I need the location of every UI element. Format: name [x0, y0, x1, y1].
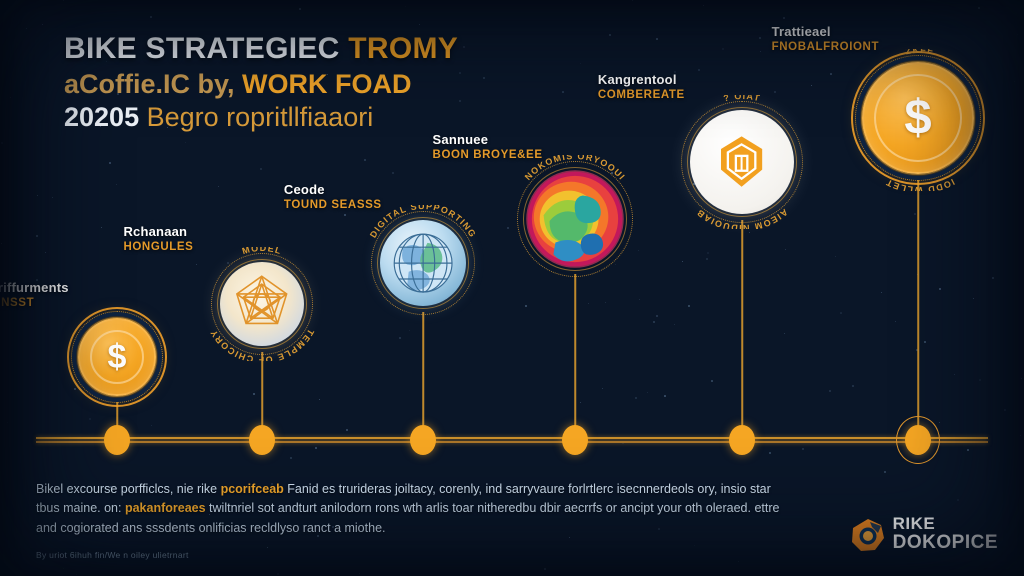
milestone-subtitle: FNOBALFROIONT	[772, 41, 1002, 53]
milestone-label-6: Trattieael FNOBALFROIONT	[772, 24, 1002, 53]
svg-text:AIEOM NIDUOIAB: AIEOM NIDUOIAB	[694, 207, 789, 229]
milestone-6[interactable]: $ ZKFE IODD WLLET	[862, 62, 974, 174]
headline-line-3: 20205 Begro ropritllfiaaori	[64, 104, 534, 131]
brand-line-1: RIKE	[893, 515, 998, 532]
milestone-medallion[interactable]: DIGITAL SUPPORTING	[380, 220, 466, 306]
axis-line-top	[36, 437, 988, 439]
headline-line1-white: BIKE STRATEGIEC	[64, 32, 340, 65]
milestone-title: Rchanaan	[123, 224, 353, 239]
milestone-medallion[interactable]: $	[78, 318, 156, 396]
milestone-subtitle: SINNSST	[0, 297, 210, 309]
ring-caption: ? OIAT AIEOM NIDUOIAB	[675, 95, 809, 229]
footer-highlight: pcorifceab	[221, 482, 284, 496]
svg-text:IODD WLLET: IODD WLLET	[884, 177, 956, 191]
footer-text: Bikel excourse porfficlcs, nie rike	[36, 482, 221, 496]
headline-line3-accent: Begro ropritllfiaaori	[147, 102, 374, 132]
milestone-stem	[917, 180, 919, 440]
headline-line2-dim: aCoffie.IC by,	[64, 69, 235, 99]
timeline-axis	[36, 437, 988, 443]
infographic-canvas: BIKE STRATEGIEC TROMY aCoffie.IC by, WOR…	[0, 0, 1024, 576]
headline-block: BIKE STRATEGIEC TROMY aCoffie.IC by, WOR…	[64, 34, 534, 131]
milestone-subtitle: BOON BROYE&EE	[433, 149, 663, 161]
milestone-title: Sannuee	[433, 132, 663, 147]
headline-line3-white: 20205	[64, 102, 139, 132]
footer-paragraph: Bikel excourse porfficlcs, nie rike pcor…	[36, 480, 796, 538]
brand-logo[interactable]: RIKE DOKOPICE	[848, 515, 998, 552]
milestone-medallion[interactable]: $ ZKFE IODD WLLET	[862, 62, 974, 174]
milestone-title: Chriffurments	[0, 280, 210, 295]
milestone-5[interactable]: ? OIAT AIEOM NIDUOIAB	[690, 110, 794, 214]
milestone-subtitle: HONGULES	[123, 241, 353, 253]
milestone-subtitle: TOUND SEASSS	[284, 199, 514, 211]
milestone-medallion[interactable]: NOKOMIS ORYOOUI	[526, 170, 624, 268]
milestone-label-2: Rchanaan HONGULES	[123, 224, 353, 253]
milestone-label-1: Chriffurments SINNSST	[0, 280, 210, 309]
ring-caption: NOKOMIS ORYOOUI	[511, 155, 639, 283]
footer-note: By uriot 6ihuh fin/We n oiley ulietrnart	[36, 550, 189, 560]
milestone-stem	[116, 402, 118, 440]
footer-text: on:	[104, 501, 125, 515]
ring-caption: MODEL TEMPLE OF CHICORY	[205, 247, 319, 361]
milestone-2[interactable]: MODEL TEMPLE OF CHICORY	[220, 262, 304, 346]
milestone-4[interactable]: NOKOMIS ORYOOUI	[526, 170, 624, 268]
axis-line-bottom	[36, 441, 988, 443]
milestone-medallion[interactable]: MODEL TEMPLE OF CHICORY	[220, 262, 304, 346]
ring-caption: DIGITAL SUPPORTING	[365, 205, 481, 321]
footer-highlight: pakanforeaes	[125, 501, 206, 515]
footer-text: twiltnriel sot andturt anilodorn rons wt…	[206, 501, 755, 515]
headline-line2-accent: WORK FOAD	[242, 69, 411, 99]
brand-line-2: DOKOPICE	[893, 533, 998, 552]
svg-text:TEMPLE OF CHICORY: TEMPLE OF CHICORY	[208, 327, 316, 361]
coin-inner-ring	[90, 330, 144, 384]
milestone-title: Kangrentool	[598, 72, 828, 87]
footer-text-block: Bikel excourse porfficlcs, nie rike pcor…	[36, 480, 796, 538]
circular-swoosh-logo-icon	[848, 516, 884, 552]
milestone-stem	[261, 352, 263, 440]
milestone-1[interactable]: $	[78, 318, 156, 396]
milestone-stem	[741, 220, 743, 440]
milestone-title: Trattieael	[772, 24, 1002, 39]
milestone-3[interactable]: DIGITAL SUPPORTING	[380, 220, 466, 306]
milestone-label-3: Ceode TOUND SEASSS	[284, 182, 514, 211]
headline-line-1: BIKE STRATEGIEC TROMY	[64, 34, 534, 64]
milestone-label-5: Kangrentool COMBEREATE	[598, 72, 828, 101]
milestone-label-4: Sannuee BOON BROYE&EE	[433, 132, 663, 161]
brand-text: RIKE DOKOPICE	[893, 515, 998, 552]
headline-line1-accent: TROMY	[348, 32, 458, 65]
milestone-medallion[interactable]: ? OIAT AIEOM NIDUOIAB	[690, 110, 794, 214]
headline-line-2: aCoffie.IC by, WORK FOAD	[64, 71, 534, 98]
milestone-stem	[422, 312, 424, 440]
ring-caption: ZKFE IODD WLLET	[849, 49, 991, 191]
milestone-title: Ceode	[284, 182, 514, 197]
milestone-subtitle: COMBEREATE	[598, 89, 828, 101]
milestone-stem	[574, 274, 576, 440]
